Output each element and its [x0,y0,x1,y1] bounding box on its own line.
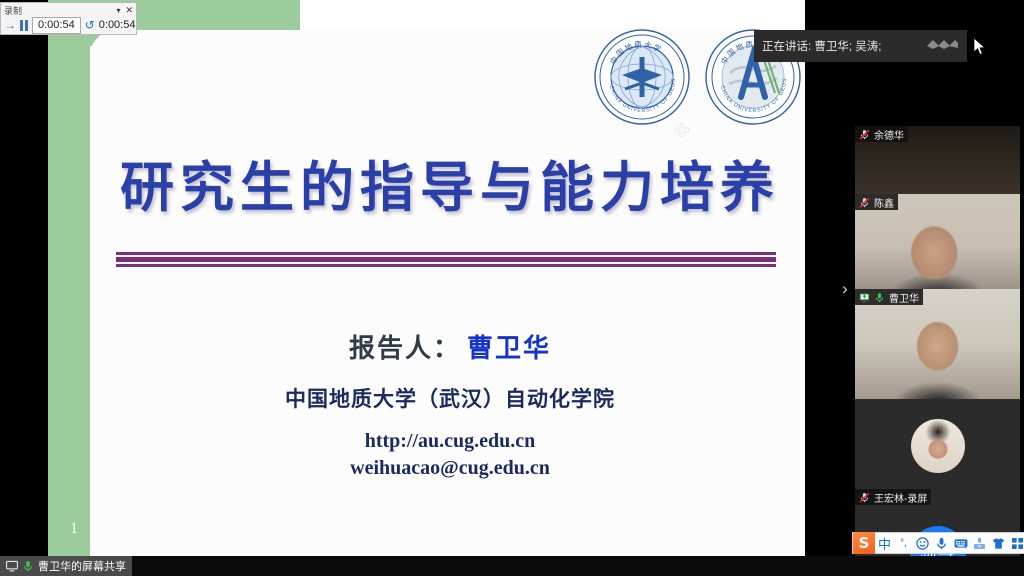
replay-icon[interactable]: ↺ [85,18,95,32]
participants-video-panel: 余德华 陈鑫 [855,126,1020,521]
taskbar: 曹卫华的屏幕共享 [0,556,1024,576]
video-tile[interactable]: 陈鑫 [855,194,1020,289]
participant-label: 王宏林-录屏 [855,489,931,505]
emoji-icon[interactable] [913,533,932,553]
participant-name: 陈鑫 [874,195,894,210]
presenter-label: 报告人： [349,333,461,363]
recording-title: 录制 [4,4,22,17]
participant-label: 陈鑫 [855,194,898,210]
total-timer: 0:00:54 [99,19,136,31]
chevron-down-icon[interactable]: ▾ [116,6,120,15]
mic-on-icon [22,560,34,572]
presenter-line: 报告人：曹卫华 [110,328,790,365]
speaking-banner[interactable]: 正在讲话: 曹卫华; 吴涛; [754,30,967,62]
title-divider [116,252,776,267]
slide-timer: 0:00:54 [32,17,81,34]
video-tile[interactable]: 王宏林-录屏 [855,399,1020,505]
participant-label: 曹卫华 [855,289,923,305]
slide-title: 研究生的指导与能力培养 [110,143,790,222]
screen-share-icon [859,292,870,303]
pause-icon[interactable] [20,20,28,31]
skin-shirt-icon[interactable] [989,533,1008,553]
recording-controls: → 0:00:54 ↺ 0:00:54 [1,16,136,34]
soft-keyboard-icon[interactable] [951,533,970,553]
participant-name: 曹卫华 [889,290,919,305]
shared-slide: 1 中国地质大学 CHINA UNIVERSITY OF GEOSCIE [48,0,805,560]
monitor-icon [6,560,18,572]
collapse-panel-chevron-icon[interactable]: › [838,278,852,300]
toolbox-grid-icon[interactable] [1008,533,1024,553]
presenter-name: 曹卫华 [467,333,551,363]
decorative-diamond-icon [674,122,690,138]
taskbar-item-label: 曹卫华的屏幕共享 [38,558,126,574]
affiliation-text: 中国地质大学（武汉）自动化学院 [110,383,790,413]
mic-muted-icon [859,197,870,208]
voice-translate-icon[interactable]: 中 [970,533,989,553]
video-tile[interactable]: 余德华 [855,126,1020,194]
recording-toolbar[interactable]: 录制 ▾ ✕ → 0:00:54 ↺ 0:00:54 [0,2,137,35]
ime-toolbar[interactable]: S 中 °, [852,532,1024,554]
mic-muted-icon [859,492,870,503]
close-icon[interactable]: ✕ [125,5,133,16]
voice-input-icon[interactable] [932,533,951,553]
slide-content-panel [90,30,805,560]
speaking-text: 正在讲话: 曹卫华; 吴涛; [762,38,881,54]
participant-name: 王宏林-录屏 [874,490,927,505]
next-arrow-icon[interactable]: → [4,18,16,32]
language-toggle-icon[interactable]: 中 [875,533,894,553]
mouse-cursor-icon [974,38,986,56]
avatar [911,419,965,473]
taskbar-item-screen-share[interactable]: 曹卫华的屏幕共享 [0,556,132,576]
mic-muted-icon [859,129,870,140]
video-tile[interactable]: 曹卫华 [855,289,1020,399]
speaking-indicator-icon [925,37,959,56]
punctuation-toggle-icon[interactable]: °, [894,533,913,553]
recording-toolbar-titlebar: 录制 ▾ ✕ [1,3,136,16]
slide-green-left-band [48,0,90,560]
svg-text:中: 中 [978,543,982,549]
video-stream [855,289,1020,399]
university-logo-geosciences: 中国地质大学 CHINA UNIVERSITY OF GEOSCIENCES [592,27,692,127]
participant-name: 余德华 [874,127,904,142]
participant-label: 余德华 [855,126,908,142]
website-url: http://au.cug.edu.cn [110,430,790,453]
slide-page-number: 1 [60,520,88,538]
email-address: weihuacao@cug.edu.cn [110,457,790,480]
screen-root: 1 中国地质大学 CHINA UNIVERSITY OF GEOSCIE [0,0,1024,576]
mic-on-icon [874,292,885,303]
sogou-logo-icon[interactable]: S [853,532,875,554]
